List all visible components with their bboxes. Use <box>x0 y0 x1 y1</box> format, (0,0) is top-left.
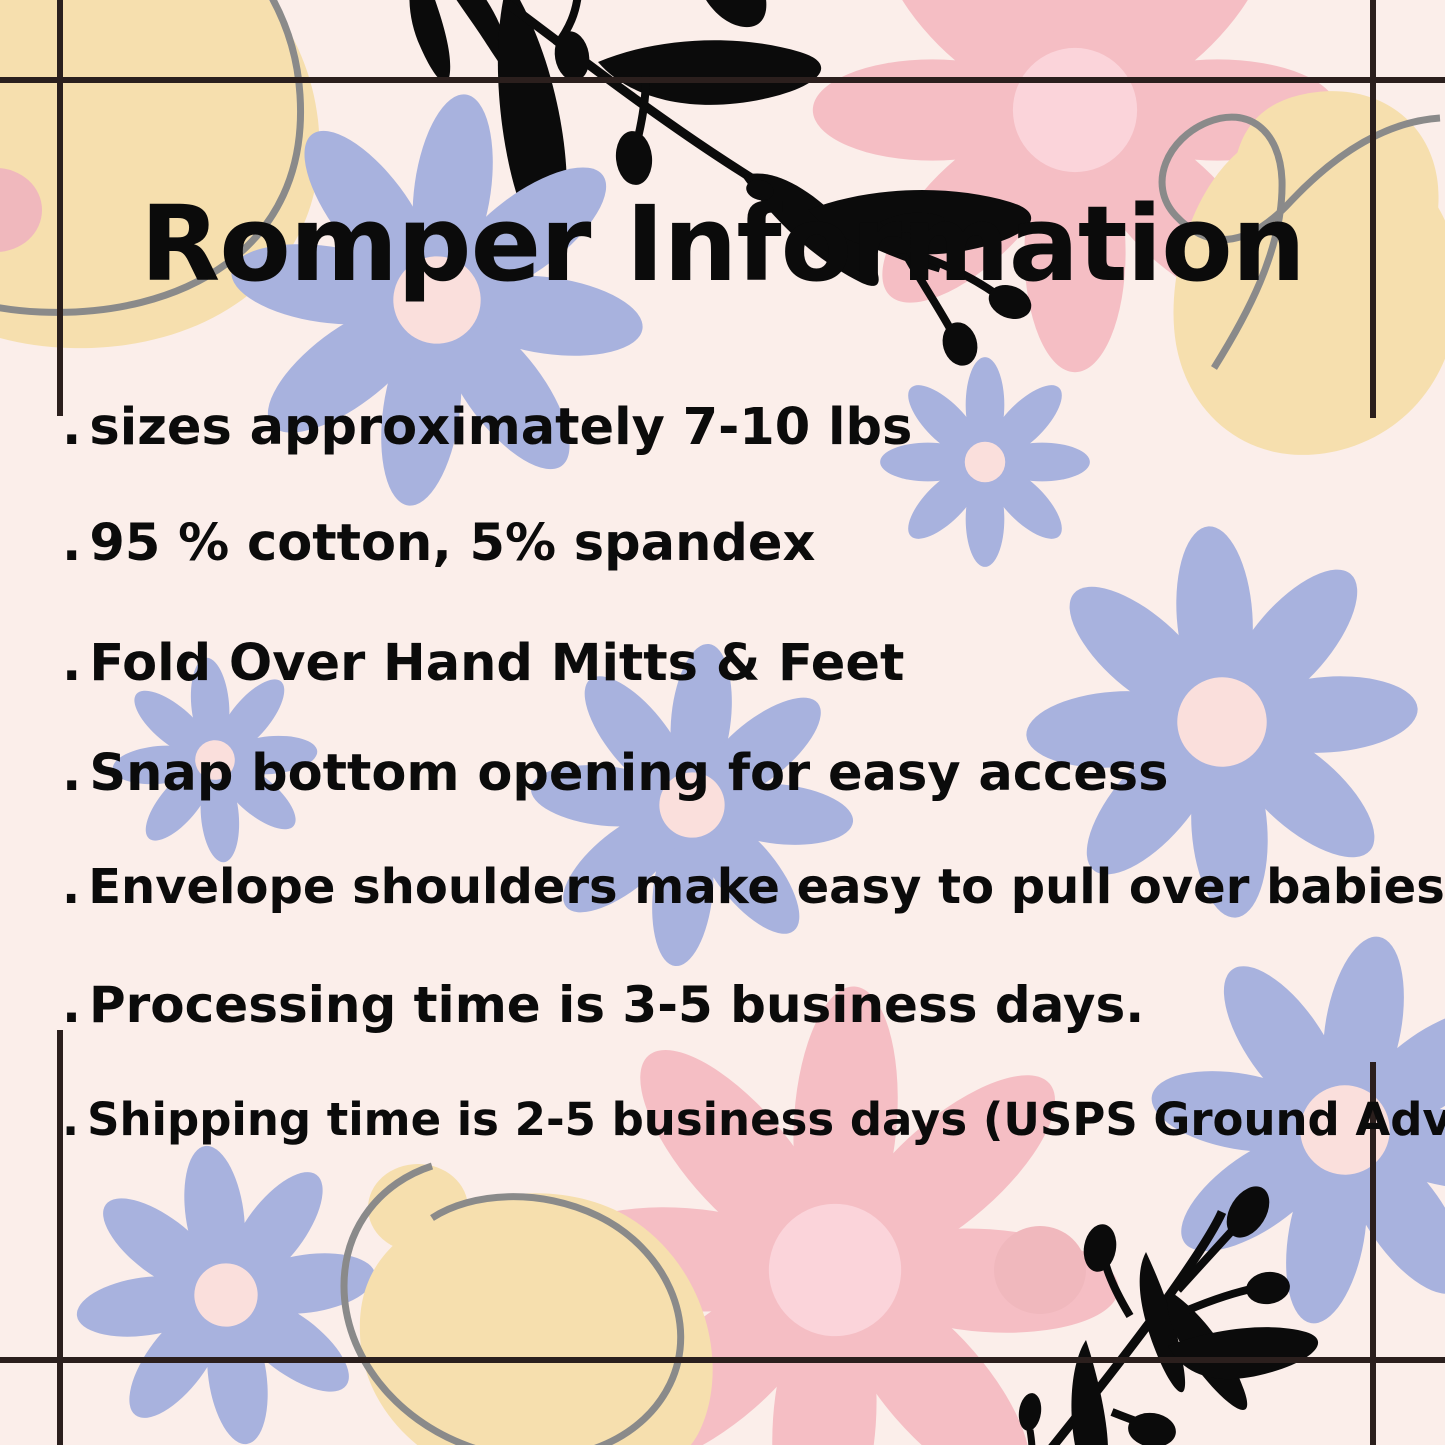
bullet-text: Fold Over Hand Mitts & Feet <box>89 634 904 693</box>
bullet-marker: . <box>62 744 81 803</box>
romper-info-list: . sizes approximately 7-10 lbs . 95 % co… <box>62 398 1412 1203</box>
page-title: Romper Information <box>0 192 1445 296</box>
list-item: . Processing time is 3-5 business days. <box>62 976 1412 1093</box>
list-item: . Envelope shoulders make easy to pull o… <box>62 859 1412 976</box>
list-item: . 95 % cotton, 5% spandex <box>62 514 1412 634</box>
bullet-marker: . <box>62 1093 79 1146</box>
list-item: . Snap bottom opening for easy access <box>62 744 1412 859</box>
bullet-text: 95 % cotton, 5% spandex <box>89 514 815 573</box>
bullet-marker: . <box>62 859 80 915</box>
bullet-marker: . <box>62 634 81 693</box>
bullet-marker: . <box>62 976 81 1034</box>
bullet-text: sizes approximately 7-10 lbs <box>89 398 912 457</box>
content-layer: Romper Information . sizes approximately… <box>0 0 1445 1445</box>
list-item: . Shipping time is 2-5 business days (US… <box>62 1093 1412 1203</box>
bullet-text: Envelope shoulders make easy to pull ove… <box>88 859 1445 915</box>
bullet-text: Shipping time is 2-5 business days (USPS… <box>87 1093 1445 1146</box>
bullet-text: Snap bottom opening for easy access <box>89 744 1168 803</box>
poster-canvas: Romper Information . sizes approximately… <box>0 0 1445 1445</box>
list-item: . sizes approximately 7-10 lbs <box>62 398 1412 514</box>
bullet-text: Processing time is 3-5 business days. <box>89 976 1144 1034</box>
bullet-marker: . <box>62 514 81 573</box>
list-item: . Fold Over Hand Mitts & Feet <box>62 634 1412 744</box>
bullet-marker: . <box>62 398 81 457</box>
